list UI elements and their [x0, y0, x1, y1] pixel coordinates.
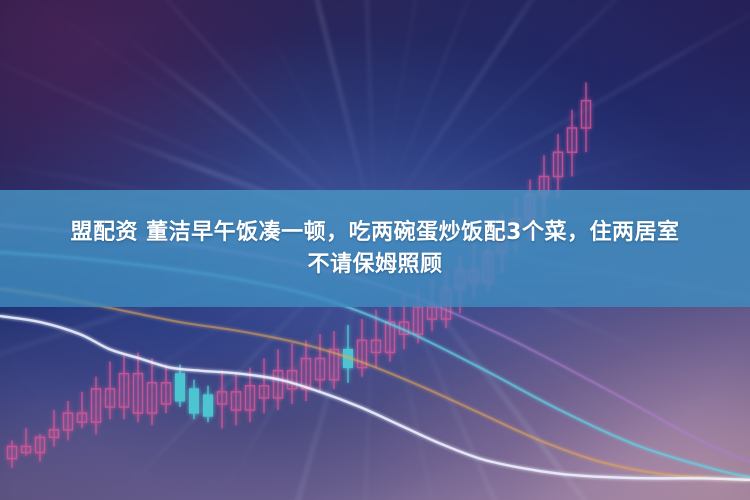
candlestick	[92, 377, 101, 435]
candlestick	[218, 371, 227, 429]
candlestick	[204, 386, 213, 422]
candlestick	[120, 355, 129, 419]
candlestick	[386, 304, 395, 362]
headline-line-2: 不请保姆照顾	[307, 249, 442, 280]
candlestick	[344, 325, 353, 383]
candlestick	[302, 340, 311, 401]
candlestick	[358, 319, 367, 377]
candlestick	[582, 82, 591, 152]
candlestick	[106, 362, 115, 420]
candlestick	[554, 134, 563, 198]
candlestick	[568, 110, 577, 177]
candlestick	[162, 365, 171, 414]
candlestick	[316, 334, 325, 392]
candlestick	[148, 359, 157, 426]
candlestick	[8, 440, 17, 467]
candlestick	[190, 380, 199, 419]
candlestick	[330, 331, 339, 389]
headline-overlay-band: 盟配资 董洁早午饭凑一顿，吃两碗蛋炒饭配3个菜，住两居室 不请保姆照顾	[0, 190, 750, 307]
candlestick	[232, 374, 241, 426]
candlestick	[288, 343, 297, 404]
candlestick	[64, 401, 73, 440]
candlestick	[176, 365, 185, 407]
headline-line-1: 盟配资 董洁早午饭凑一顿，吃两碗蛋炒饭配3个菜，住两居室	[71, 217, 680, 248]
candlestick	[36, 434, 45, 461]
candlestick	[78, 392, 87, 428]
candlestick	[260, 359, 269, 414]
candlestick	[134, 352, 143, 422]
banner-image: 盟配资 董洁早午饭凑一顿，吃两碗蛋炒饭配3个菜，住两居室 不请保姆照顾	[0, 0, 750, 500]
candlestick	[50, 410, 59, 446]
candlestick	[22, 428, 31, 455]
